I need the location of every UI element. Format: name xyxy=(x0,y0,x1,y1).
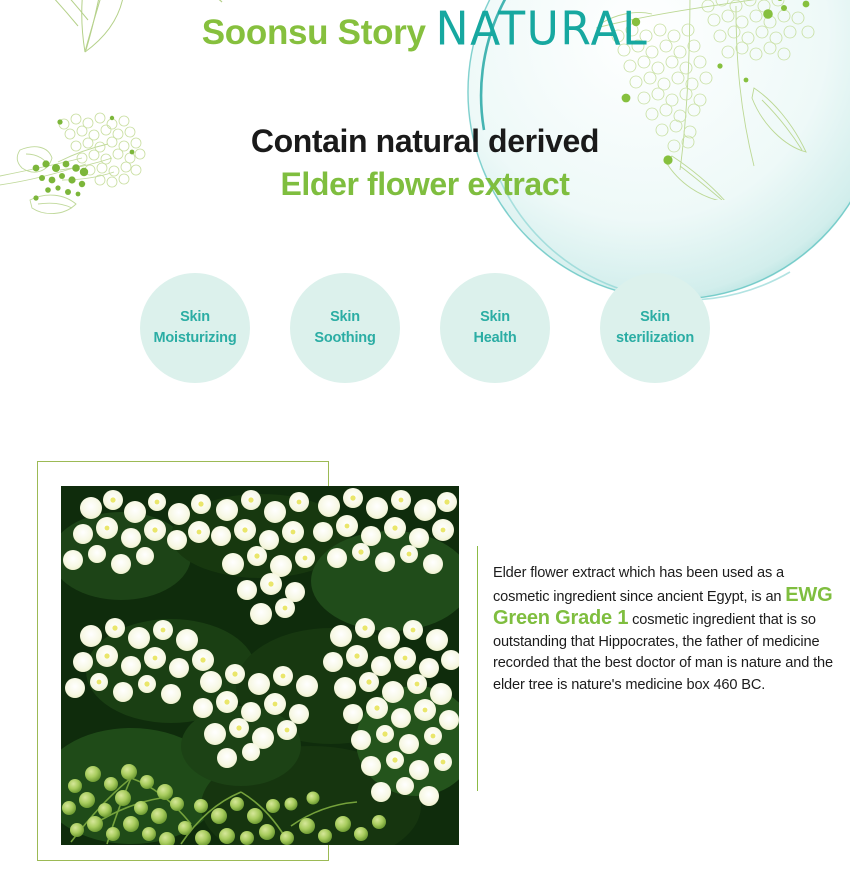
badge-label: Skin sterilization xyxy=(616,307,694,349)
badge-label: Skin Soothing xyxy=(314,307,375,349)
badge-skin-soothing[interactable]: Skin Soothing xyxy=(290,273,400,383)
badge-skin-health[interactable]: Skin Health xyxy=(440,273,550,383)
page-title: Contain natural derived Elder flower ext… xyxy=(0,120,850,206)
brand-name-secondary: NATURAL xyxy=(436,3,649,57)
text-accent-rule xyxy=(477,546,478,791)
product-detail-page: Soonsu StoryNATURAL Contain natural deri… xyxy=(0,0,850,870)
product-description: Elder flower extract which has been used… xyxy=(493,563,833,696)
headline-line-1: Contain natural derived xyxy=(0,120,850,162)
badge-label: Skin Health xyxy=(473,307,516,349)
badge-label: Skin Moisturizing xyxy=(154,307,237,349)
headline-line-2: Elder flower extract xyxy=(0,162,850,206)
description-intro: Elder flower extract which has been used… xyxy=(493,565,785,605)
badge-skin-moisturizing[interactable]: Skin Moisturizing xyxy=(140,273,250,383)
benefit-badge-group: Skin Moisturizing Skin Soothing Skin Hea… xyxy=(140,273,720,385)
badge-skin-sterilization[interactable]: Skin sterilization xyxy=(600,273,710,383)
page-header: Soonsu StoryNATURAL xyxy=(0,4,850,62)
brand-name-primary: Soonsu Story xyxy=(202,13,426,52)
elderflower-photo xyxy=(61,486,459,845)
